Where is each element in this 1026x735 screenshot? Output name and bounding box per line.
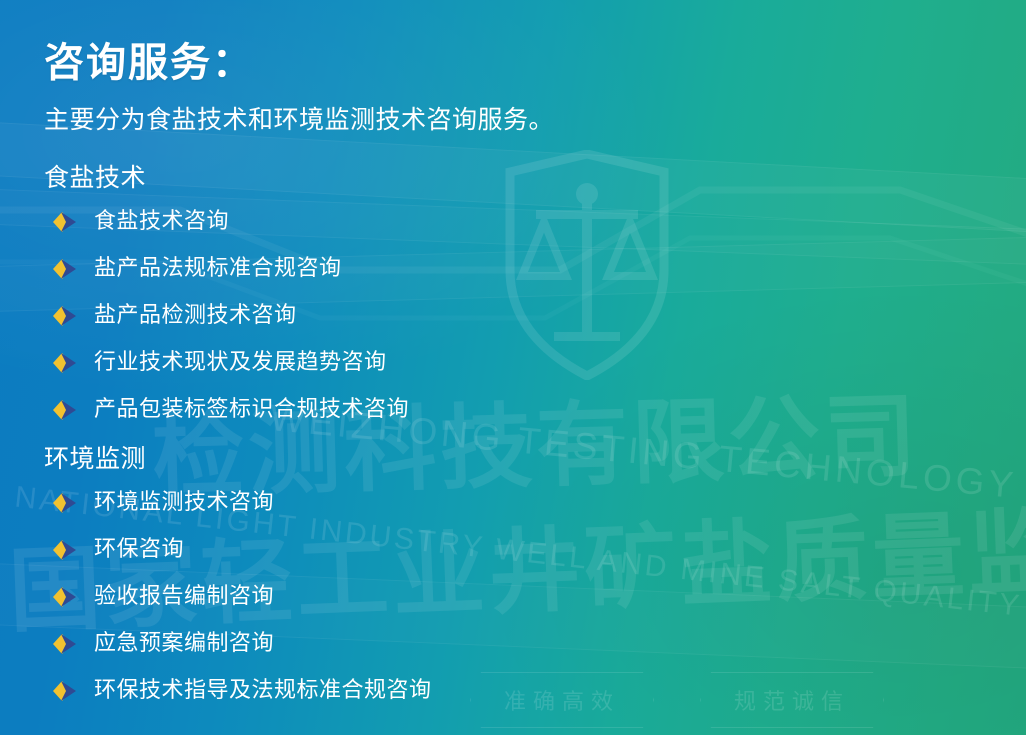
section-environmental-monitoring: 环境监测 环境监测技术咨询 环保咨询 xyxy=(44,444,1026,715)
list-item[interactable]: 环保咨询 xyxy=(44,527,1026,574)
list-item[interactable]: 盐产品法规标准合规咨询 xyxy=(44,246,1026,293)
list-item-label: 产品包装标签标识合规技术咨询 xyxy=(94,397,409,423)
diamond-arrow-bullet-icon xyxy=(52,305,78,327)
list-item[interactable]: 应急预案编制咨询 xyxy=(44,621,1026,668)
list-item[interactable]: 产品包装标签标识合规技术咨询 xyxy=(44,387,1026,434)
section-salt-technology: 食盐技术 食盐技术咨询 盐产品法规标准合规咨询 xyxy=(44,163,1026,434)
diamond-arrow-bullet-icon xyxy=(52,258,78,280)
list-item-label: 验收报告编制咨询 xyxy=(94,584,274,610)
list-item-label: 应急预案编制咨询 xyxy=(94,631,274,657)
list-item-label: 行业技术现状及发展趋势咨询 xyxy=(94,350,387,376)
slide-content: 咨询服务： 主要分为食盐技术和环境监测技术咨询服务。 食盐技术 食盐技术咨询 xyxy=(0,0,1026,715)
diamond-arrow-bullet-icon xyxy=(52,399,78,421)
diamond-arrow-bullet-icon xyxy=(52,211,78,233)
list-item-label: 环保技术指导及法规标准合规咨询 xyxy=(94,678,432,704)
diamond-arrow-bullet-icon xyxy=(52,492,78,514)
list-item-label: 食盐技术咨询 xyxy=(94,209,229,235)
list-item-label: 环保咨询 xyxy=(94,537,184,563)
page-title: 咨询服务： xyxy=(44,40,1026,86)
diamond-arrow-bullet-icon xyxy=(52,539,78,561)
diamond-arrow-bullet-icon xyxy=(52,586,78,608)
list-item-label: 盐产品检测技术咨询 xyxy=(94,303,297,329)
list-item-label: 盐产品法规标准合规咨询 xyxy=(94,256,342,282)
list-item[interactable]: 食盐技术咨询 xyxy=(44,199,1026,246)
list-item[interactable]: 环境监测技术咨询 xyxy=(44,480,1026,527)
section-heading-salt: 食盐技术 xyxy=(44,163,1026,193)
diamond-arrow-bullet-icon xyxy=(52,633,78,655)
slide-canvas: 检测科技有限公司 国家轻工业井矿盐质量监督检测中心 WEIZHONG TESTI… xyxy=(0,0,1026,735)
bullet-list-environment: 环境监测技术咨询 环保咨询 验收报告编制咨询 xyxy=(44,480,1026,715)
section-heading-environment: 环境监测 xyxy=(44,444,1026,474)
diamond-arrow-bullet-icon xyxy=(52,680,78,702)
list-item-label: 环境监测技术咨询 xyxy=(94,490,274,516)
list-item[interactable]: 盐产品检测技术咨询 xyxy=(44,293,1026,340)
list-item[interactable]: 验收报告编制咨询 xyxy=(44,574,1026,621)
bullet-list-salt: 食盐技术咨询 盐产品法规标准合规咨询 盐产品检测技术咨询 xyxy=(44,199,1026,434)
list-item[interactable]: 行业技术现状及发展趋势咨询 xyxy=(44,340,1026,387)
list-item[interactable]: 环保技术指导及法规标准合规咨询 xyxy=(44,668,1026,715)
page-subtitle: 主要分为食盐技术和环境监测技术咨询服务。 xyxy=(44,104,1026,137)
diamond-arrow-bullet-icon xyxy=(52,352,78,374)
